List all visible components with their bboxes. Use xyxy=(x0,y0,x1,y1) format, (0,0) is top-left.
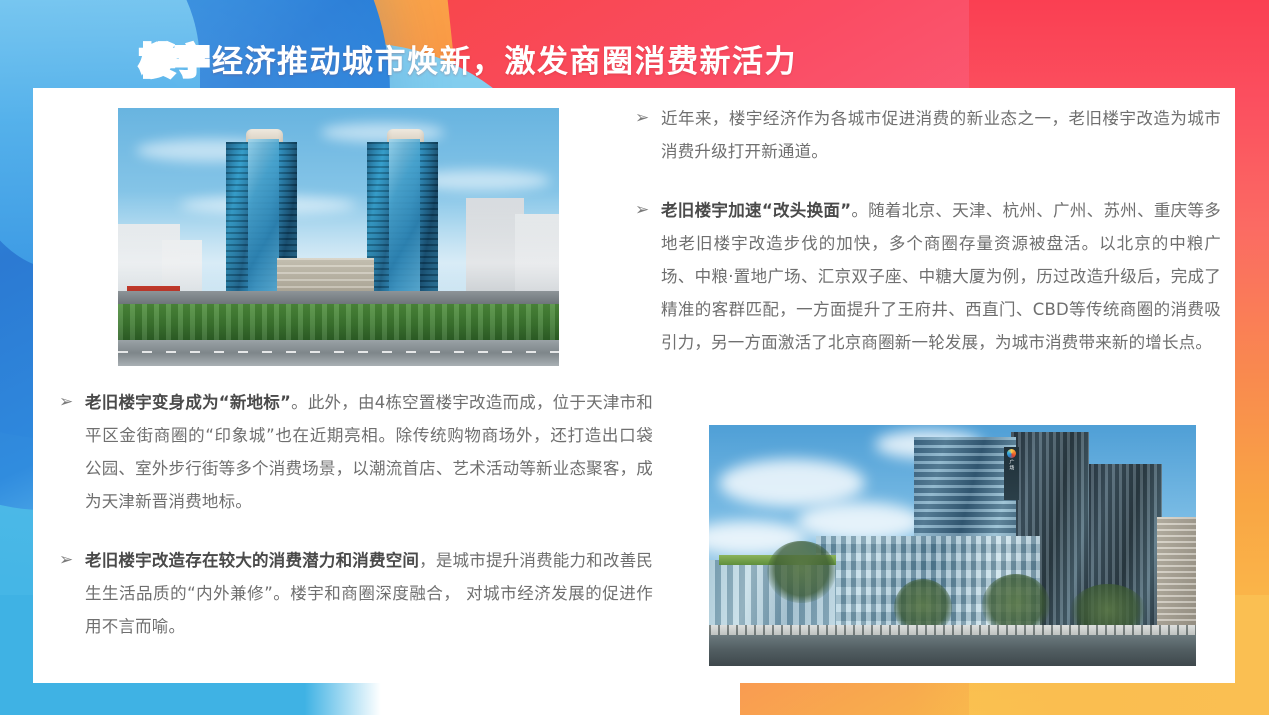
bullet-item: ➢ 老旧楼宇加速“改头换面”。随着北京、天津、杭州、广州、苏州、重庆等多地老旧楼… xyxy=(631,194,1221,359)
bullet-lead: 老旧楼宇变身成为“新地标” xyxy=(85,393,291,412)
building-signage: 广场 xyxy=(1004,447,1020,500)
green-belt xyxy=(118,304,559,340)
left-text-column: ➢ 老旧楼宇变身成为“新地标”。此外，由4栋空置楼宇改造而成，位于天津市和平区金… xyxy=(55,386,653,643)
residential-tower-far xyxy=(1157,517,1196,625)
slide-title-row: 楼宇 经济推动城市焕新，激发商圈消费新活力 xyxy=(0,34,1269,90)
street xyxy=(118,340,559,366)
bullet-text: 老旧楼宇加速“改头换面”。随着北京、天津、杭州、广州、苏州、重庆等多地老旧楼宇改… xyxy=(661,194,1221,359)
bullet-text: 老旧楼宇变身成为“新地标”。此外，由4栋空置楼宇改造而成，位于天津市和平区金街商… xyxy=(85,386,653,518)
signage-text: 广场 xyxy=(1008,459,1014,471)
bullet-item: ➢ 近年来，楼宇经济作为各城市促进消费的新业态之一，老旧楼宇改造为城市消费升级打… xyxy=(631,102,1221,168)
bullet-arrow-icon: ➢ xyxy=(631,194,661,227)
slide-root: 楼宇 经济推动城市焕新，激发商圈消费新活力 xyxy=(0,0,1269,715)
tower-glass-facade-right xyxy=(389,139,420,307)
page-title: 经济推动城市焕新，激发商圈消费新活力 xyxy=(212,47,797,78)
plaza-ground xyxy=(118,291,559,304)
street xyxy=(709,635,1196,666)
twin-glass-towers-photo xyxy=(118,108,559,366)
bullet-text: 近年来，楼宇经济作为各城市促进消费的新业态之一，老旧楼宇改造为城市消费升级打开新… xyxy=(661,102,1221,168)
bullet-lead: 老旧楼宇加速“改头换面” xyxy=(661,201,851,220)
bullet-arrow-icon: ➢ xyxy=(631,102,661,135)
street-tree xyxy=(767,541,835,604)
bullet-arrow-icon: ➢ xyxy=(55,544,85,577)
cloud-shape xyxy=(321,123,444,141)
title-decorated-prefix: 楼宇 xyxy=(140,45,210,79)
tower-glass-facade-left xyxy=(248,139,279,307)
bullet-rest: 。随着北京、天津、杭州、广州、苏州、重庆等多地老旧楼宇改造步伐的加快，多个商圈存… xyxy=(661,201,1221,352)
bullet-lead: 老旧楼宇改造存在较大的消费潜力和消费空间 xyxy=(85,551,419,570)
brand-logo-icon xyxy=(1007,449,1016,458)
right-text-column: ➢ 近年来，楼宇经济作为各城市促进消费的新业态之一，老旧楼宇改造为城市消费升级打… xyxy=(631,102,1221,359)
bullet-item: ➢ 老旧楼宇改造存在较大的消费潜力和消费空间，是城市提升消费能力和改善民生生活品… xyxy=(55,544,653,643)
content-card: 广场 ➢ 近年来，楼宇经济作为各城市促进消费的新业态之一，老旧楼宇改造为城市消费… xyxy=(33,88,1235,683)
cloud-shape xyxy=(797,502,924,541)
bullet-text: 老旧楼宇改造存在较大的消费潜力和消费空间，是城市提升消费能力和改善民生生活品质的… xyxy=(85,544,653,643)
cloud-shape xyxy=(719,459,865,507)
bullet-item: ➢ 老旧楼宇变身成为“新地标”。此外，由4栋空置楼宇改造而成，位于天津市和平区金… xyxy=(55,386,653,518)
bullet-arrow-icon: ➢ xyxy=(55,386,85,419)
glass-office-complex-photo: 广场 xyxy=(709,425,1196,666)
